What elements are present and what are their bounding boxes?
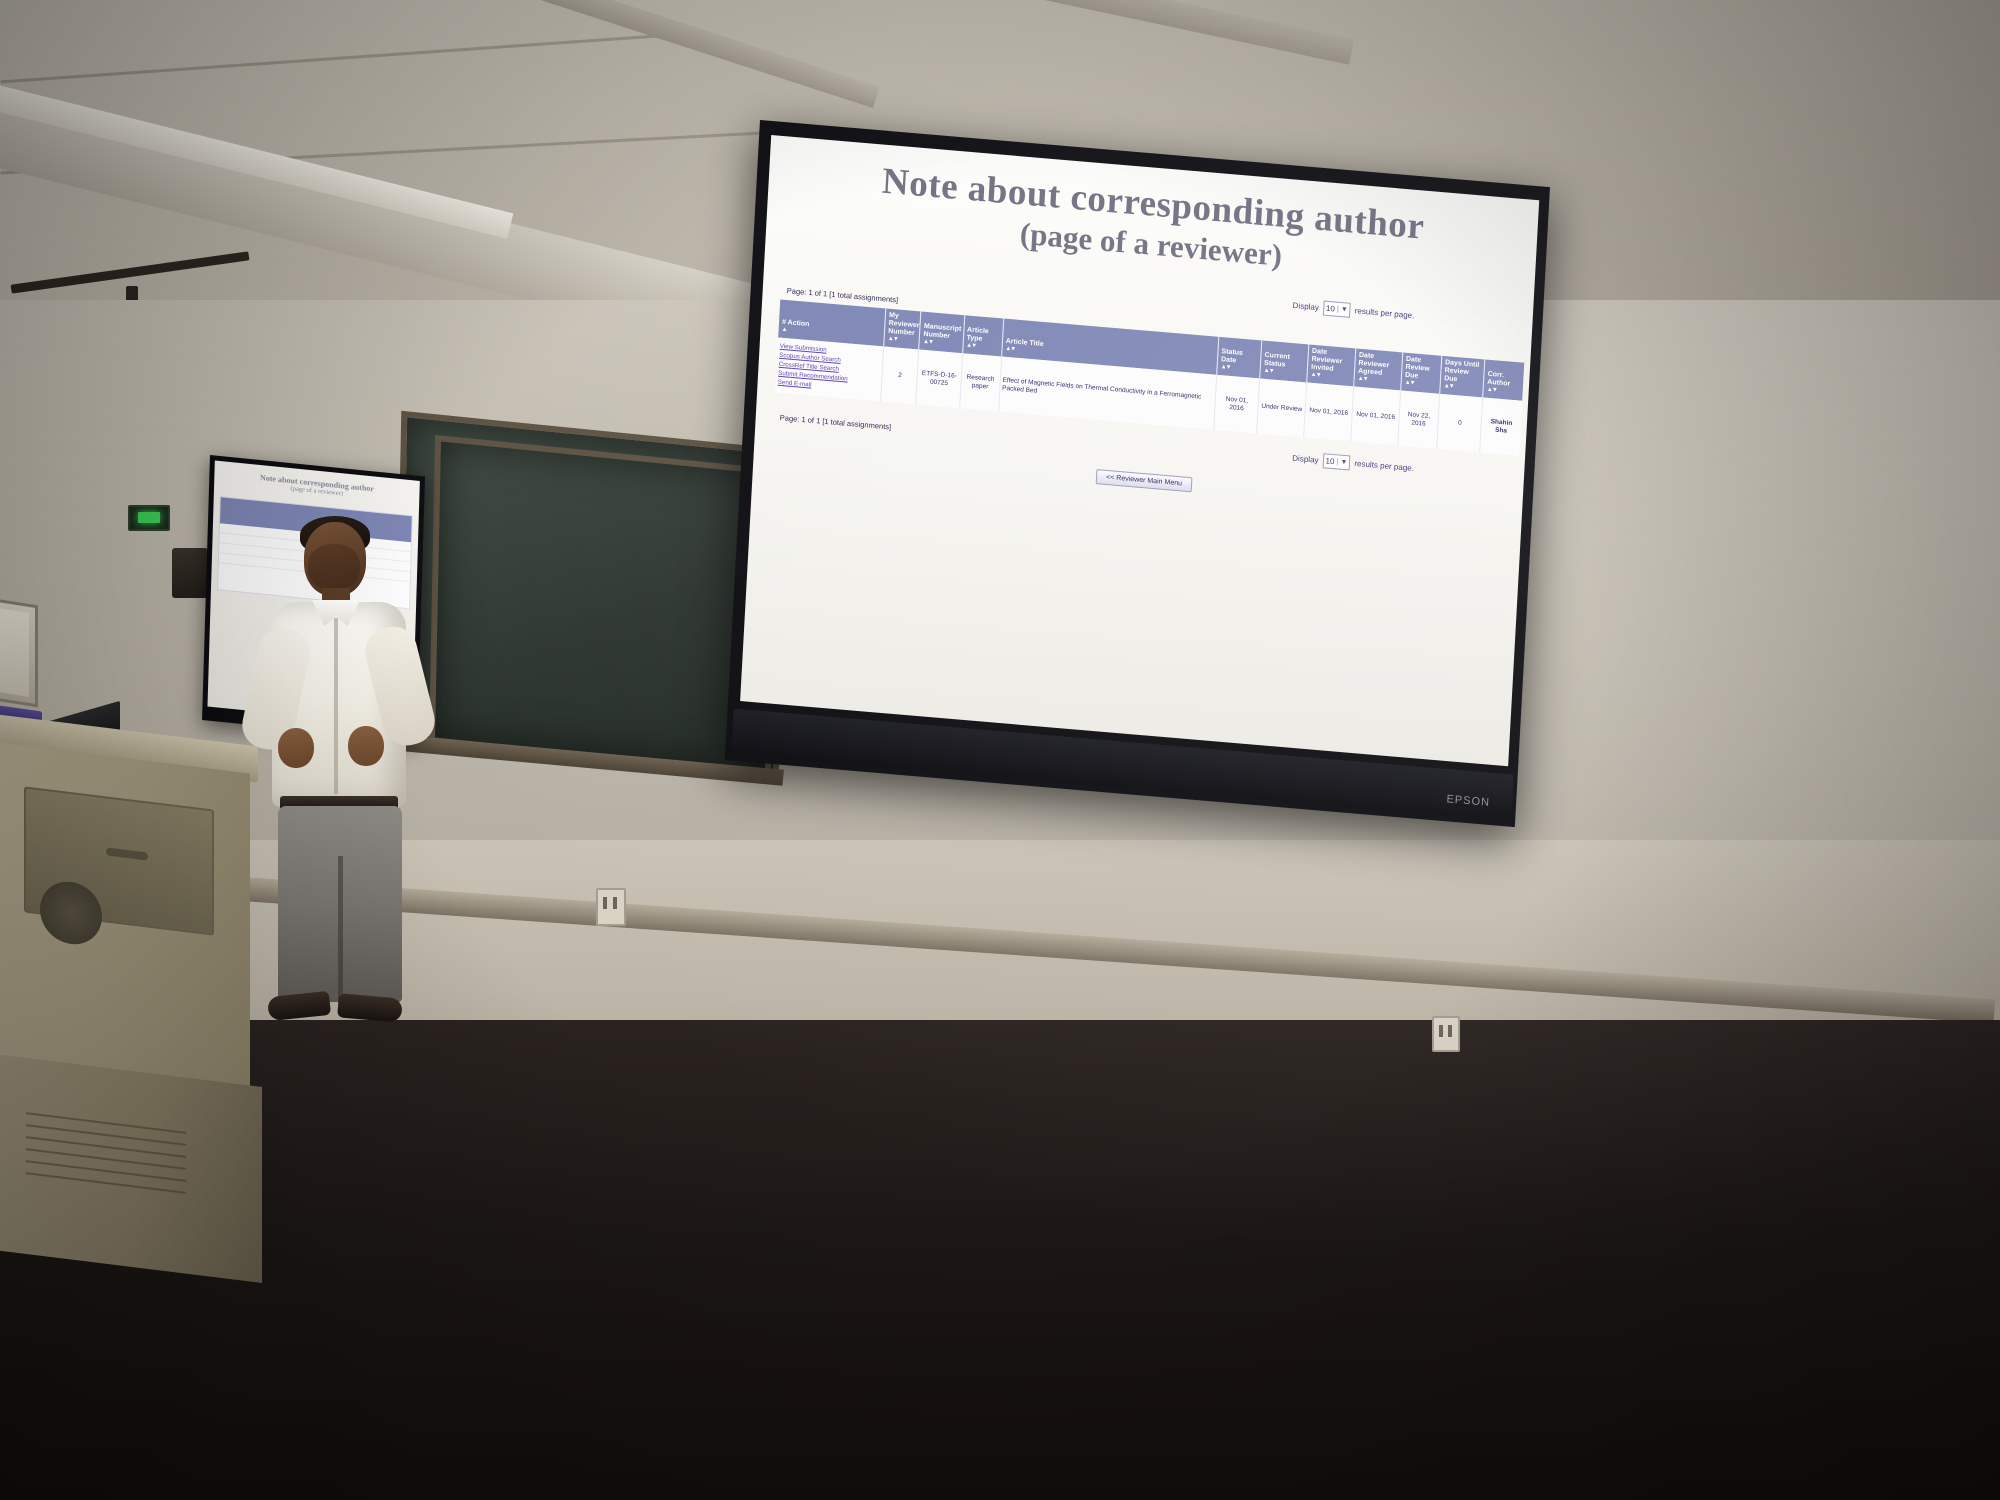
sort-icon[interactable]: ▲▼ <box>1357 376 1398 386</box>
display-label-top: Display <box>1292 301 1319 312</box>
lectern-monitor <box>0 595 38 708</box>
cell-corr-author: Shahin Sha <box>1480 398 1522 456</box>
sort-icon[interactable]: ▲▼ <box>923 339 960 349</box>
wall-outlet <box>596 888 626 926</box>
display-label-bottom: Display <box>1292 454 1319 465</box>
sort-icon[interactable]: ▲▼ <box>966 343 1000 353</box>
col-action-label: # Action <box>782 318 810 327</box>
presenter-left-hand <box>278 728 314 768</box>
main-projection-screen: Note about corresponding author (page of… <box>725 120 1550 827</box>
results-per-page-select-top[interactable]: 10 ▼ <box>1322 300 1351 317</box>
screen-surface: Note about corresponding author (page of… <box>740 135 1539 766</box>
slide-content: Note about corresponding author (page of… <box>740 135 1539 766</box>
col-article-type-label: Article Type <box>966 326 989 342</box>
sort-icon[interactable]: ▲▼ <box>1263 368 1304 378</box>
cell-date-review-due: Nov 22, 2016 <box>1398 391 1440 449</box>
sort-icon[interactable]: ▲▼ <box>1444 384 1481 394</box>
results-per-page-value-top: 10 <box>1326 304 1335 314</box>
wall-speaker-box <box>172 548 208 598</box>
chevron-down-icon: ▼ <box>1337 459 1347 467</box>
results-per-page-value-bottom: 10 <box>1325 457 1334 467</box>
col-article-type[interactable]: Article Type ▲▼ <box>962 315 1003 357</box>
cell-current-status: Under Review <box>1257 379 1307 438</box>
col-status-date-label: Status Date <box>1221 348 1243 364</box>
sort-icon[interactable]: ▲▼ <box>1487 387 1521 397</box>
col-date-review-due[interactable]: Date Review Due ▲▼ <box>1401 352 1442 394</box>
row-actions: View Submission Scopus Author Search Cro… <box>775 338 884 402</box>
chalkboard-panel <box>429 435 777 777</box>
floor <box>0 1020 2000 1500</box>
sort-icon[interactable]: ▲▼ <box>1404 380 1438 390</box>
col-my-reviewer-number[interactable]: My Reviewer Number ▲▼ <box>884 309 921 350</box>
col-date-reviewer-invited-label: Date Reviewer Invited <box>1311 348 1343 373</box>
sort-icon[interactable]: ▲▼ <box>1310 372 1351 382</box>
presenter-leg-seam <box>338 856 343 1004</box>
display-suffix-bottom: results per page. <box>1354 459 1414 473</box>
cell-manuscript-number: ETFS-D-16-00725 <box>916 350 962 409</box>
col-corr-author[interactable]: Corr. Author ▲▼ <box>1483 359 1524 401</box>
col-date-reviewer-agreed-label: Date Reviewer Agreed <box>1358 352 1390 377</box>
col-current-status[interactable]: Current Status ▲▼ <box>1260 340 1309 382</box>
lectern <box>0 730 280 1270</box>
col-date-reviewer-agreed[interactable]: Date Reviewer Agreed ▲▼ <box>1354 348 1403 390</box>
col-my-reviewer-number-label: My Reviewer Number <box>888 312 920 337</box>
cell-status-date: Nov 01, 2016 <box>1214 375 1260 434</box>
cell-days-until-review-due: 0 <box>1437 394 1483 453</box>
sort-icon[interactable]: ▲▼ <box>1220 365 1257 375</box>
chevron-down-icon: ▼ <box>1338 306 1348 314</box>
col-current-status-label: Current Status <box>1264 352 1290 369</box>
col-days-until-review-due[interactable]: Days Until Review Due ▲▼ <box>1440 356 1485 398</box>
cell-date-reviewer-invited: Nov 01, 2016 <box>1304 383 1354 442</box>
cell-my-reviewer-number: 2 <box>881 347 919 405</box>
sort-icon[interactable]: ▲▼ <box>888 336 918 345</box>
col-days-until-review-due-label: Days Until Review Due <box>1444 359 1479 383</box>
col-manuscript-number-label: Manuscript Number <box>923 323 961 340</box>
lectern-base <box>0 1053 262 1283</box>
col-corr-author-label: Corr. Author <box>1487 371 1510 388</box>
exit-sign <box>128 505 170 531</box>
results-per-page-select-bottom[interactable]: 10 ▼ <box>1322 453 1351 470</box>
cell-article-type: Research paper <box>959 353 1001 411</box>
wall-outlet <box>1432 1016 1460 1052</box>
presenter-right-shoe <box>337 993 403 1022</box>
col-date-reviewer-invited[interactable]: Date Reviewer Invited ▲▼ <box>1307 344 1356 386</box>
reviewer-main-menu-button[interactable]: << Reviewer Main Menu <box>1096 469 1193 492</box>
display-suffix-top: results per page. <box>1354 306 1414 320</box>
presenter-shirt-placket <box>334 618 338 794</box>
col-status-date[interactable]: Status Date ▲▼ <box>1217 337 1262 379</box>
editorial-manager-panel: Display 10 ▼ results per page. Page: 1 o… <box>772 255 1527 520</box>
lecture-hall-photo: Note about corresponding author (page of… <box>0 0 2000 1500</box>
col-date-review-due-label: Date Review Due <box>1405 356 1430 380</box>
presenter-face-shadow <box>308 544 360 590</box>
cell-date-reviewer-agreed: Nov 01, 2016 <box>1351 387 1401 446</box>
presenter-right-hand <box>348 726 384 766</box>
col-manuscript-number[interactable]: Manuscript Number ▲▼ <box>919 312 964 354</box>
